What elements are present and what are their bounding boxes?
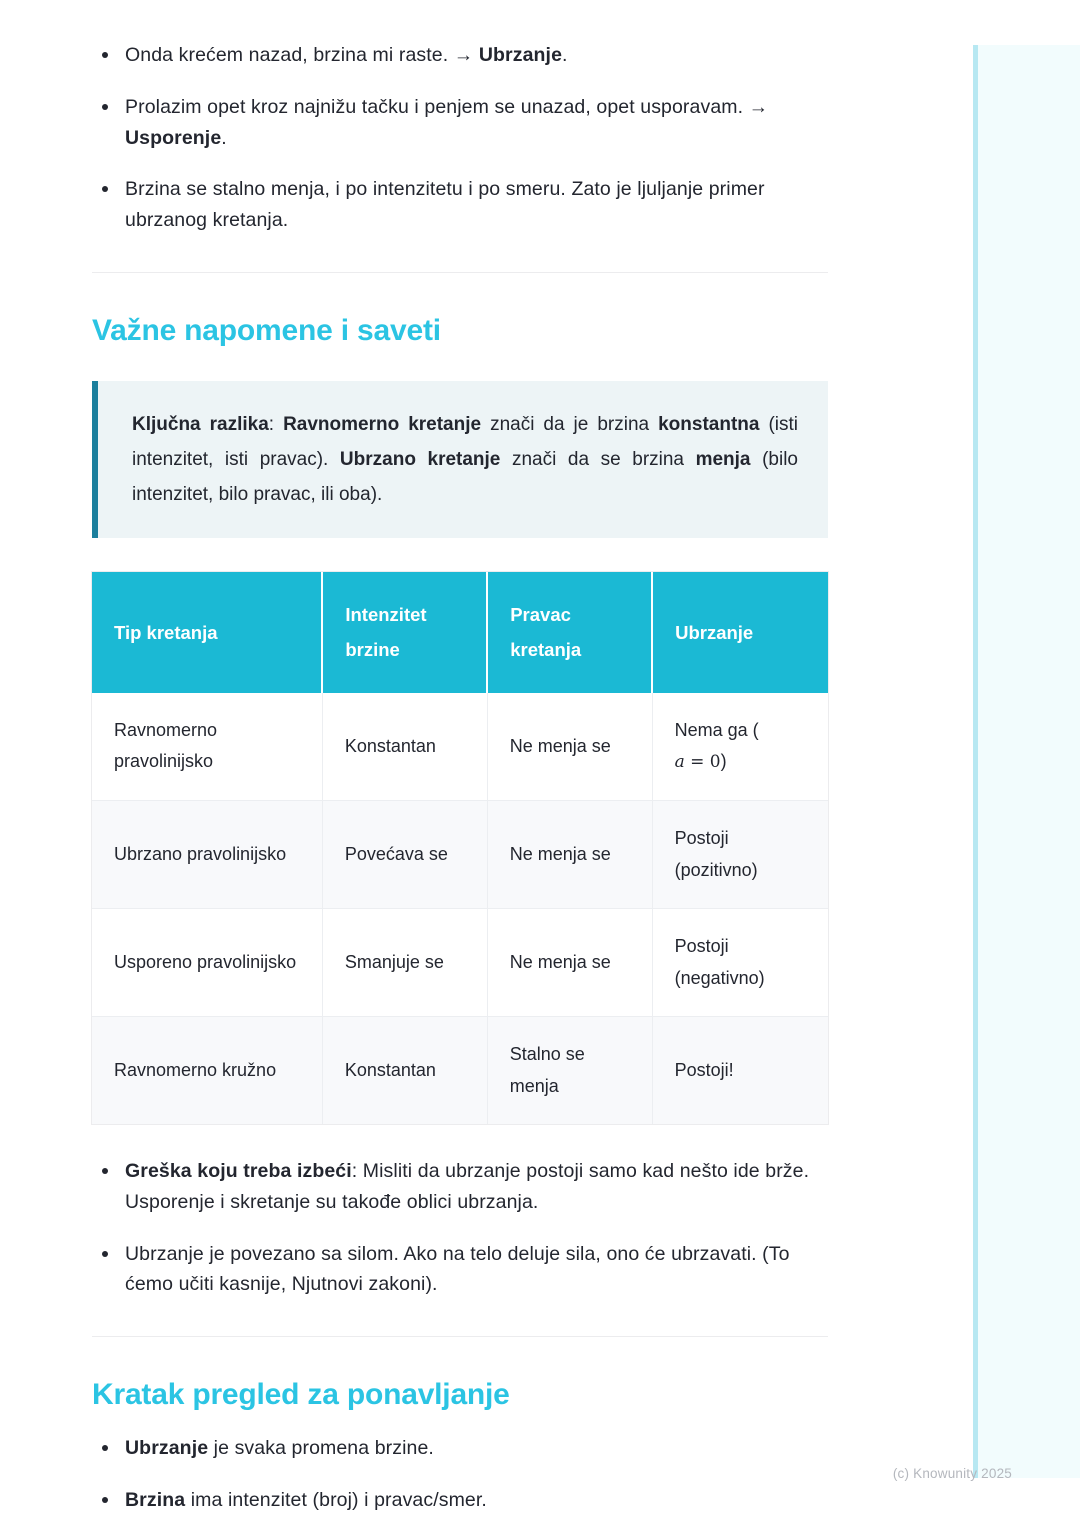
body-text: Ubrzanje je povezano sa silom. Ako na te… [125, 1243, 790, 1296]
list-item: Ubrzanje je svaka promena brzine. [92, 1433, 828, 1464]
table-cell: Usporeno pravolinijsko [92, 909, 322, 1017]
emphasis-text: Ubrzano kretanje [340, 449, 500, 470]
table-cell: Postoji (negativno) [652, 909, 828, 1017]
table-cell: Nema ga (a = 0) [652, 693, 828, 801]
table-cell: Konstantan [322, 1017, 487, 1125]
decorative-right-strip [973, 45, 1080, 1478]
math-variable: a [675, 752, 685, 772]
section-title-review: Kratak pregled za ponavljanje [92, 1377, 828, 1413]
table-body: Ravnomerno pravolinijskoKonstantanNe men… [92, 693, 828, 1124]
emphasis-text: Brzina [125, 1489, 185, 1511]
spacer [92, 273, 828, 313]
body-text: Onda krećem nazad, brzina mi raste. → [125, 44, 479, 66]
top-bullet-list: Onda krećem nazad, brzina mi raste. → Ub… [92, 40, 828, 236]
body-text: Nema ga ( [675, 720, 759, 740]
table-column-header: Pravac kretanja [487, 572, 652, 692]
motion-types-table: Tip kretanjaIntenzitet brzinePravac kret… [92, 572, 828, 1124]
emphasis-text: Usporenje [125, 127, 221, 149]
copyright-watermark: (c) Knowunity 2025 [893, 1466, 1012, 1481]
spacer [92, 349, 828, 381]
list-item: Greška koju treba izbeći: Misliti da ubr… [92, 1156, 828, 1218]
body-text: Brzina se stalno menja, i po intenzitetu… [125, 178, 765, 231]
emphasis-text: Ubrzanje [479, 44, 562, 66]
body-text: je svaka promena brzine. [208, 1437, 434, 1459]
table-cell: Smanjuje se [322, 909, 487, 1017]
spacer [92, 538, 828, 572]
table-header-row: Tip kretanjaIntenzitet brzinePravac kret… [92, 572, 828, 692]
body-text: Prolazim opet kroz najnižu tačku i penje… [125, 96, 768, 118]
emphasis-text: Ključna razlika [132, 414, 269, 435]
body-text: ) [721, 751, 727, 771]
spacer [92, 1300, 828, 1336]
table-cell: Ne menja se [487, 909, 652, 1017]
table-row: Usporeno pravolinijskoSmanjuje seNe menj… [92, 909, 828, 1017]
callout-text: Ključna razlika: Ravnomerno kretanje zna… [132, 407, 798, 512]
table-cell: Ravnomerno pravolinijsko [92, 693, 322, 801]
math-operator: = [685, 752, 710, 772]
emphasis-text: Ravnomerno kretanje [283, 414, 481, 435]
emphasis-text: konstantna [658, 414, 759, 435]
list-item: Onda krećem nazad, brzina mi raste. → Ub… [92, 40, 828, 71]
list-item: Brzina ima intenzitet (broj) i pravac/sm… [92, 1485, 828, 1516]
table-column-header: Ubrzanje [652, 572, 828, 692]
table-cell: Konstantan [322, 693, 487, 801]
spacer [92, 1124, 828, 1156]
table-column-header: Tip kretanja [92, 572, 322, 692]
spacer [92, 1413, 828, 1433]
table-row: Ravnomerno kružnoKonstantanStalno se men… [92, 1017, 828, 1125]
section-title-notes: Važne napomene i saveti [92, 313, 828, 349]
key-difference-callout: Ključna razlika: Ravnomerno kretanje zna… [92, 381, 828, 538]
table-cell: Ne menja se [487, 801, 652, 909]
table-row: Ravnomerno pravolinijskoKonstantanNe men… [92, 693, 828, 801]
table-cell: Postoji! [652, 1017, 828, 1125]
body-text: . [221, 127, 227, 149]
body-text: ima intenzitet (broj) i pravac/smer. [185, 1489, 487, 1511]
spacer [92, 1337, 828, 1377]
emphasis-text: menja [696, 449, 751, 470]
table-header: Tip kretanjaIntenzitet brzinePravac kret… [92, 572, 828, 692]
review-bullet-list: Ubrzanje je svaka promena brzine.Brzina … [92, 1433, 828, 1516]
table-cell: Povećava se [322, 801, 487, 909]
body-text: . [562, 44, 568, 66]
body-text: znači da je brzina [481, 414, 658, 435]
list-item: Prolazim opet kroz najnižu tačku i penje… [92, 92, 828, 154]
math-number: 0 [710, 752, 721, 772]
body-text: : [269, 414, 283, 435]
body-text: znači da se brzina [500, 449, 695, 470]
emphasis-text: Greška koju treba izbeći [125, 1160, 352, 1182]
table-cell: Ne menja se [487, 693, 652, 801]
list-item: Ubrzanje je povezano sa silom. Ako na te… [92, 1239, 828, 1301]
table-cell: Ubrzano pravolinijsko [92, 801, 322, 909]
spacer [92, 236, 828, 272]
table-row: Ubrzano pravolinijskoPovećava seNe menja… [92, 801, 828, 909]
table-cell: Ravnomerno kružno [92, 1017, 322, 1125]
document-page: Onda krećem nazad, brzina mi raste. → Ub… [0, 0, 973, 1528]
emphasis-text: Ubrzanje [125, 1437, 208, 1459]
table-cell: Postoji (pozitivno) [652, 801, 828, 909]
table-cell: Stalno se menja [487, 1017, 652, 1125]
table-column-header: Intenzitet brzine [322, 572, 487, 692]
list-item: Brzina se stalno menja, i po intenzitetu… [92, 174, 828, 236]
mid-bullet-list: Greška koju treba izbeći: Misliti da ubr… [92, 1156, 828, 1300]
